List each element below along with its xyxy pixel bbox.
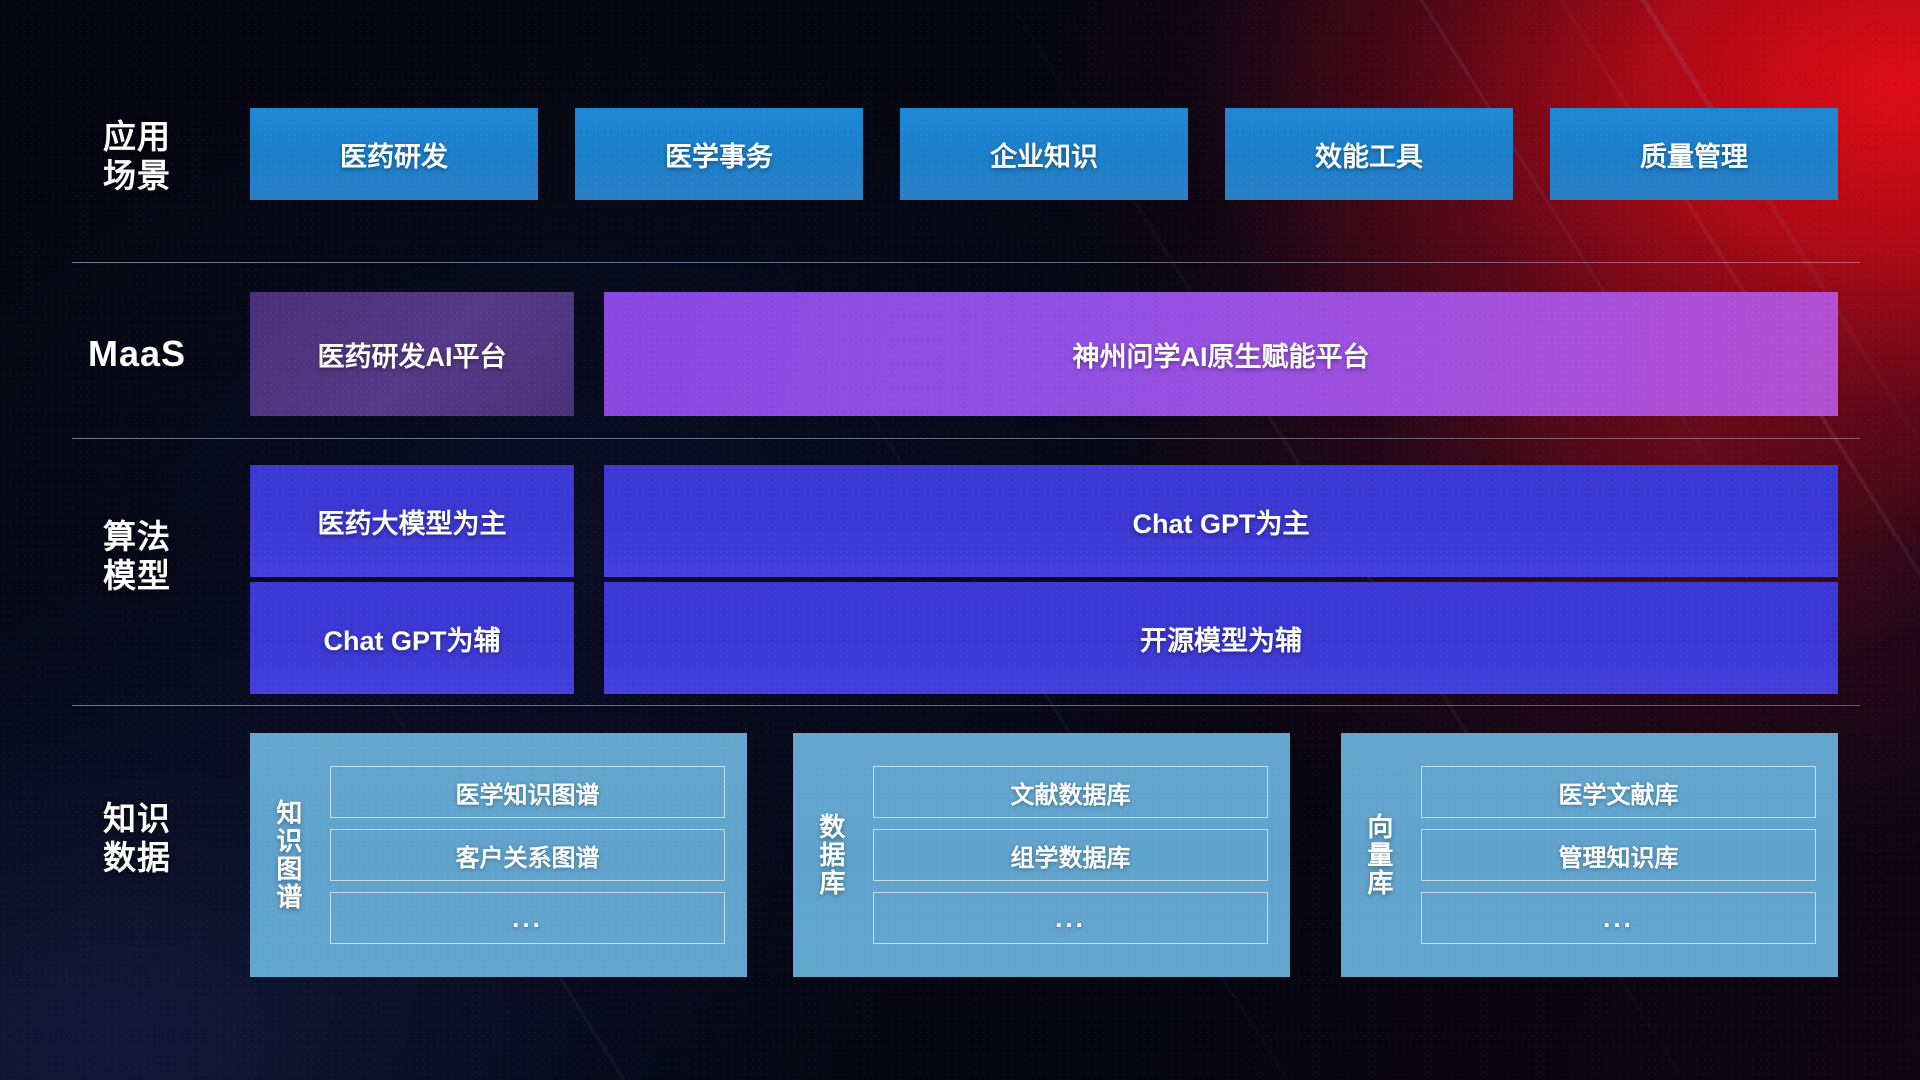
knowledge-group-title-char: 数据库 — [815, 813, 845, 897]
app-box-enterprise-knowledge[interactable]: 企业知识 — [900, 108, 1188, 200]
app-box-efficiency-tools[interactable]: 效能工具 — [1225, 108, 1513, 200]
maas-box-label: 医药研发AI平台 — [318, 335, 507, 374]
algo-box-chatgpt-secondary[interactable]: Chat GPT为辅 — [250, 582, 574, 694]
knowledge-group-title: 数据库 — [793, 733, 867, 977]
knowledge-group-knowledge-graph[interactable]: 知识图谱 医学知识图谱 客户关系图谱 ... — [250, 733, 747, 977]
knowledge-item-more[interactable]: ... — [873, 892, 1268, 944]
algo-box-label: 医药大模型为主 — [318, 502, 507, 541]
app-box-label: 效能工具 — [1315, 135, 1423, 174]
maas-box-drug-rd-ai-platform[interactable]: 医药研发AI平台 — [250, 292, 574, 416]
knowledge-item[interactable]: 管理知识库 — [1421, 829, 1816, 881]
app-box-drug-rd[interactable]: 医药研发 — [250, 108, 538, 200]
knowledge-group-title: 知识图谱 — [250, 733, 324, 977]
knowledge-item-list: 医学文献库 管理知识库 ... — [1415, 733, 1838, 977]
knowledge-item[interactable]: 文献数据库 — [873, 766, 1268, 818]
maas-box-label: 神州问学AI原生赋能平台 — [1073, 335, 1370, 374]
knowledge-item[interactable]: 医学知识图谱 — [330, 766, 725, 818]
knowledge-item-list: 文献数据库 组学数据库 ... — [867, 733, 1290, 977]
algo-box-opensource-secondary[interactable]: 开源模型为辅 — [604, 582, 1838, 694]
knowledge-item-more[interactable]: ... — [330, 892, 725, 944]
app-box-medical-affairs[interactable]: 医学事务 — [575, 108, 863, 200]
app-box-label: 质量管理 — [1640, 135, 1748, 174]
tier-label-algorithm-model: 算法 模型 — [72, 518, 202, 596]
knowledge-item[interactable]: 客户关系图谱 — [330, 829, 725, 881]
app-box-label: 医药研发 — [340, 135, 448, 174]
maas-box-shenzhou-wenxue-platform[interactable]: 神州问学AI原生赋能平台 — [604, 292, 1838, 416]
tier-label-application: 应用 场景 — [72, 118, 202, 196]
architecture-diagram: 应用 场景 医药研发 医学事务 企业知识 效能工具 质量管理 MaaS 医药研发… — [0, 0, 1920, 1080]
knowledge-group-title-char: 向量库 — [1363, 813, 1393, 897]
algo-box-label: 开源模型为辅 — [1140, 619, 1302, 658]
algo-box-label: Chat GPT为辅 — [323, 619, 500, 658]
divider-tier-3-4 — [72, 705, 1860, 706]
knowledge-group-title-char: 知识图谱 — [272, 799, 302, 911]
app-box-label: 企业知识 — [990, 135, 1098, 174]
knowledge-item-more[interactable]: ... — [1421, 892, 1816, 944]
knowledge-group-database[interactable]: 数据库 文献数据库 组学数据库 ... — [793, 733, 1290, 977]
knowledge-group-vector-store[interactable]: 向量库 医学文献库 管理知识库 ... — [1341, 733, 1838, 977]
algo-box-pharma-llm-primary[interactable]: 医药大模型为主 — [250, 465, 574, 577]
knowledge-item[interactable]: 医学文献库 — [1421, 766, 1816, 818]
algo-box-label: Chat GPT为主 — [1132, 502, 1309, 541]
app-box-quality-management[interactable]: 质量管理 — [1550, 108, 1838, 200]
knowledge-item[interactable]: 组学数据库 — [873, 829, 1268, 881]
knowledge-item-list: 医学知识图谱 客户关系图谱 ... — [324, 733, 747, 977]
divider-tier-2-3 — [72, 438, 1860, 439]
algo-box-chatgpt-primary[interactable]: Chat GPT为主 — [604, 465, 1838, 577]
app-box-label: 医学事务 — [665, 135, 773, 174]
tier-label-knowledge-data: 知识 数据 — [72, 800, 202, 878]
knowledge-group-title: 向量库 — [1341, 733, 1415, 977]
divider-tier-1-2 — [72, 262, 1860, 263]
tier-label-maas: MaaS — [72, 333, 202, 375]
